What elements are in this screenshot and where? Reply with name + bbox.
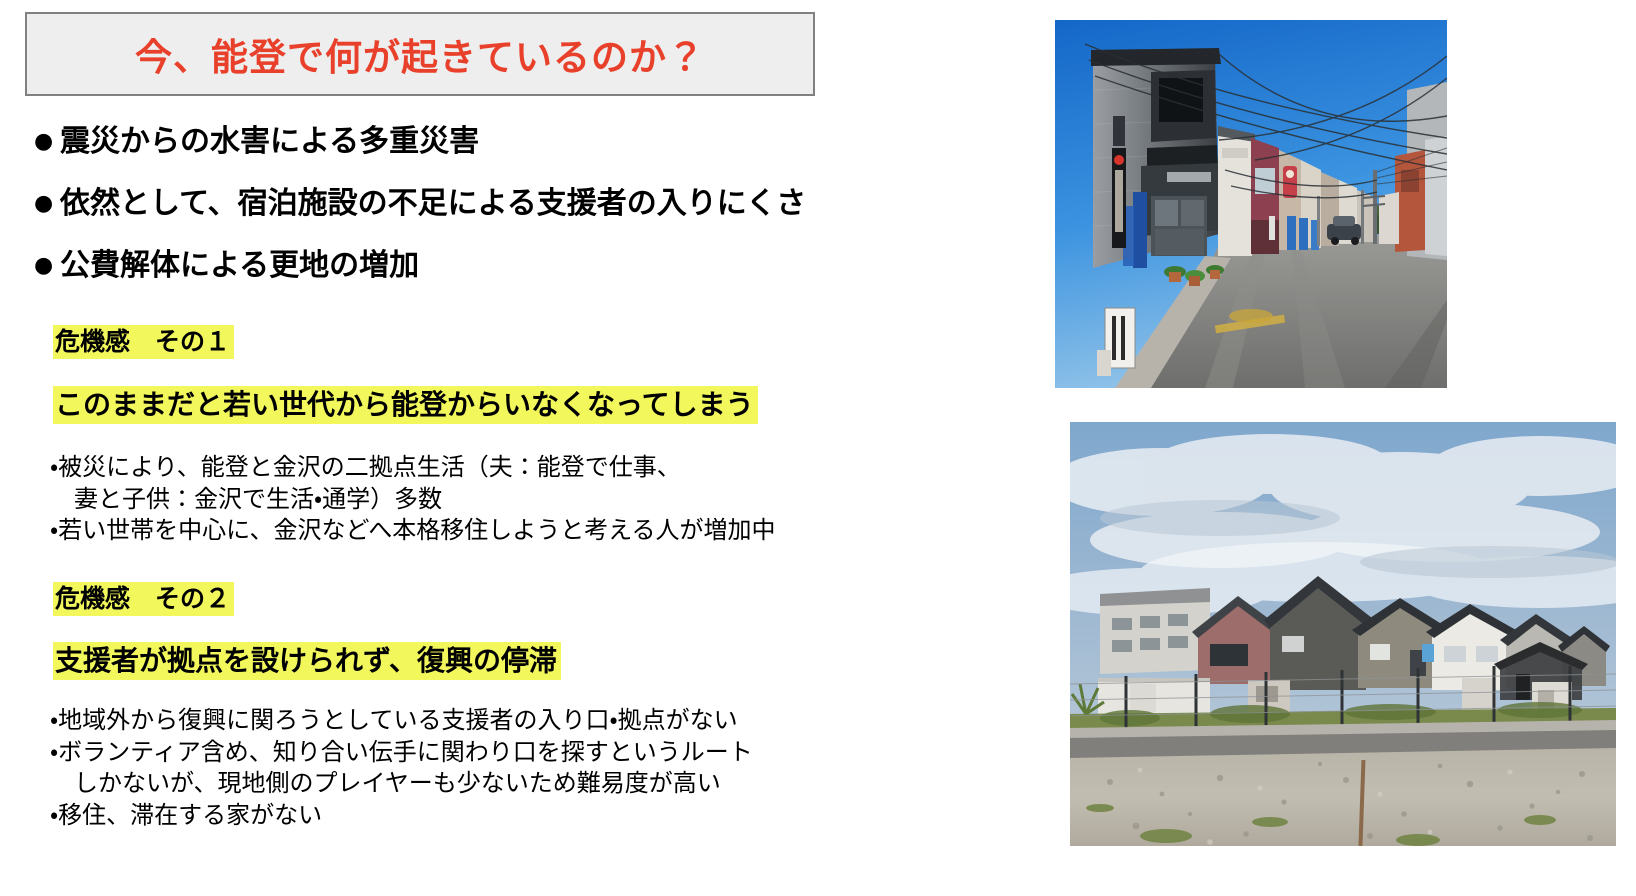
bullet-marker-icon: ● (26, 182, 60, 226)
crisis-2-headline: 支援者が拠点を設けられず、復興の停滞 (53, 642, 561, 680)
list-item: ● 依然として、宿泊施設の不足による支援者の入りにくさ (26, 182, 1026, 244)
list-item: ● 震災からの水害による多重災害 (26, 120, 1026, 182)
bullet-marker-icon: ● (26, 120, 60, 164)
crisis-1-label: 危機感 その１ (53, 325, 234, 359)
headline-bullet-list: ● 震災からの水害による多重災害 ● 依然として、宿泊施設の不足による支援者の入… (26, 120, 1026, 306)
bullet-text: 公費解体による更地の増加 (60, 244, 419, 288)
list-item: ● 公費解体による更地の増加 (26, 244, 1026, 306)
slide-root: 今、能登で何が起きているのか？ ● 震災からの水害による多重災害 ● 依然として… (0, 0, 1636, 896)
bullet-text: 震災からの水害による多重災害 (60, 120, 479, 164)
bullet-text: 依然として、宿泊施設の不足による支援者の入りにくさ (60, 182, 806, 226)
crisis-1-headline: このままだと若い世代から能登からいなくなってしまう (53, 386, 758, 424)
content-column: 今、能登で何が起きているのか？ ● 震災からの水害による多重災害 ● 依然として… (0, 0, 1040, 896)
shotengai-street-photo (1055, 20, 1447, 388)
crisis-2-label: 危機感 その２ (53, 582, 234, 616)
vacant-lot-photo (1070, 422, 1616, 846)
title-box: 今、能登で何が起きているのか？ (25, 12, 815, 96)
crisis-1-details: ・被災により、能登と金沢の二拠点生活（夫：能登で仕事、 妻と子供：金沢で生活・通… (50, 452, 776, 547)
crisis-2-details: ・地域外から復興に関ろうとしている支援者の入り口・拠点がない ・ボランティア含め… (50, 705, 753, 832)
bullet-marker-icon: ● (26, 244, 60, 288)
page-title: 今、能登で何が起きているのか？ (135, 27, 705, 81)
